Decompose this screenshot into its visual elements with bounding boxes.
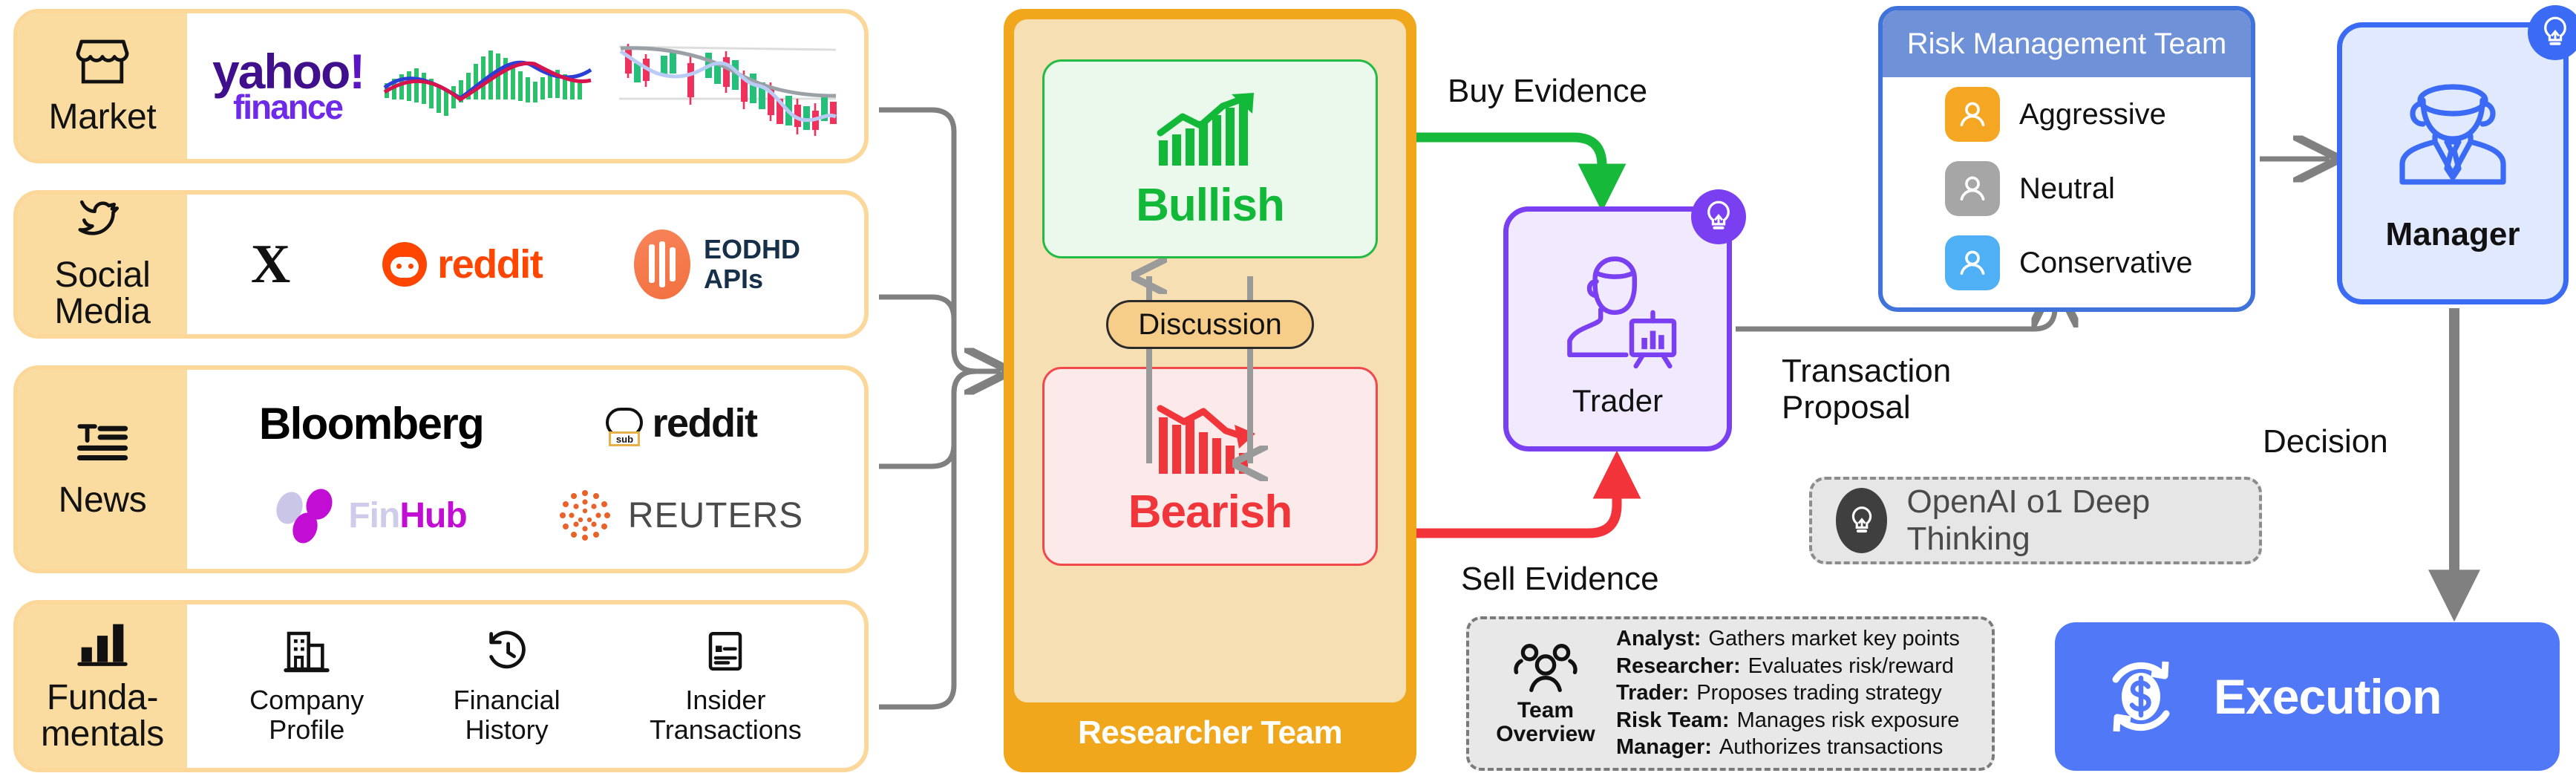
source-label-social-media: SocialMedia bbox=[18, 195, 187, 334]
team-overview-box: TeamOverview Analyst:Gathers market key … bbox=[1466, 616, 1995, 771]
reuters-logo[interactable]: REUTERS bbox=[557, 487, 803, 544]
eodhd-mark-icon bbox=[634, 229, 690, 299]
lightbulb-icon bbox=[2528, 5, 2576, 60]
team-overview-left: TeamOverview bbox=[1482, 641, 1609, 746]
researcher-team-inner: Bullish Discussion bbox=[1014, 19, 1406, 702]
risk-management-team-panel[interactable]: Risk Management Team Aggressive Neutral … bbox=[1878, 6, 2255, 312]
source-label-fundamentals: Funda-mentals bbox=[18, 604, 187, 768]
bullish-label: Bullish bbox=[1136, 179, 1284, 232]
execution-label: Execution bbox=[2214, 668, 2441, 725]
team-overview-rows: Analyst:Gathers market key points Resear… bbox=[1616, 626, 1981, 761]
source-body-news: Bloomberg sub reddit FinHub bbox=[187, 370, 864, 569]
reuters-mark-icon bbox=[557, 487, 613, 544]
discussion-arrows bbox=[1014, 258, 1406, 481]
source-label-text: News bbox=[59, 483, 147, 519]
diagram-canvas: Market yahoo! finance bbox=[0, 0, 2576, 776]
source-label-text: SocialMedia bbox=[54, 258, 150, 330]
candlestick-chart-uptrend-image bbox=[379, 34, 601, 138]
bar-chart-icon bbox=[77, 619, 128, 667]
document-lines-icon bbox=[703, 627, 748, 675]
insider-transactions-item[interactable]: InsiderTransactions bbox=[650, 627, 802, 746]
twitter-bird-icon bbox=[75, 198, 130, 244]
x-logo[interactable]: X bbox=[251, 233, 290, 296]
group-people-icon bbox=[1514, 641, 1578, 694]
building-icon bbox=[283, 627, 330, 675]
person-icon bbox=[1945, 235, 2000, 290]
team-overview-row: Risk Team:Manages risk exposure bbox=[1616, 708, 1981, 734]
source-row-social-media[interactable]: SocialMedia X reddit EODHDAPIs bbox=[13, 190, 869, 339]
financial-history-item[interactable]: FinancialHistory bbox=[454, 627, 560, 746]
news-article-icon bbox=[76, 420, 128, 469]
lightbulb-icon bbox=[1691, 189, 1746, 244]
source-label-text: Market bbox=[49, 100, 157, 136]
dollar-refresh-icon bbox=[2096, 652, 2186, 741]
researcher-team-title: Researcher Team bbox=[1078, 714, 1342, 751]
openai-deep-thinking-chip: OpenAI o1 Deep Thinking bbox=[1809, 477, 2262, 564]
edge-label-buy-evidence: Buy Evidence bbox=[1448, 73, 1647, 109]
yahoo-finance-logo[interactable]: yahoo! finance bbox=[212, 50, 364, 122]
uptrend-bars-icon bbox=[1154, 87, 1266, 175]
source-row-market[interactable]: Market yahoo! finance bbox=[13, 9, 869, 163]
manager-person-suit-icon bbox=[2379, 74, 2527, 215]
risk-member-label: Aggressive bbox=[2019, 98, 2166, 131]
team-overview-title: TeamOverview bbox=[1496, 699, 1595, 746]
trader-person-chart-icon bbox=[1547, 239, 1688, 380]
manager-label: Manager bbox=[2386, 216, 2520, 253]
openai-chip-label: OpenAI o1 Deep Thinking bbox=[1906, 483, 2259, 558]
lightbulb-icon bbox=[1836, 488, 1887, 553]
source-row-fundamentals[interactable]: Funda-mentals CompanyProfile bbox=[13, 600, 869, 772]
risk-member-conservative[interactable]: Conservative bbox=[1883, 226, 2251, 300]
reddit-logo[interactable]: reddit bbox=[382, 241, 542, 287]
subreddit-mark-icon: sub bbox=[603, 402, 646, 445]
trader-label: Trader bbox=[1572, 383, 1663, 419]
edge-label-transaction-proposal: TransactionProposal bbox=[1782, 353, 1951, 426]
trader-card[interactable]: Trader bbox=[1503, 206, 1732, 451]
edge-label-decision: Decision bbox=[2263, 423, 2388, 460]
edge-label-sell-evidence: Sell Evidence bbox=[1461, 561, 1659, 597]
team-overview-row: Analyst:Gathers market key points bbox=[1616, 626, 1981, 653]
source-body-social-media: X reddit EODHDAPIs bbox=[187, 195, 864, 334]
bloomberg-logo[interactable]: Bloomberg bbox=[259, 398, 483, 449]
finhub-logo[interactable]: FinHub bbox=[275, 489, 466, 542]
source-label-news: News bbox=[18, 370, 187, 569]
financial-history-label: FinancialHistory bbox=[454, 685, 560, 746]
risk-member-label: Neutral bbox=[2019, 172, 2115, 206]
team-overview-row: Manager:Authorizes transactions bbox=[1616, 734, 1981, 761]
source-label-market: Market bbox=[18, 13, 187, 159]
risk-team-title: Risk Management Team bbox=[1883, 10, 2251, 77]
reddit-mark-icon bbox=[382, 242, 427, 287]
candlestick-chart-downtrend-image bbox=[616, 30, 839, 142]
source-body-market: yahoo! finance bbox=[187, 13, 864, 159]
source-label-text: Funda-mentals bbox=[41, 680, 164, 753]
risk-member-neutral[interactable]: Neutral bbox=[1883, 151, 2251, 226]
discussion-pill[interactable]: Discussion bbox=[1106, 300, 1314, 349]
manager-card[interactable]: Manager bbox=[2337, 22, 2569, 304]
team-overview-row: Trader:Proposes trading strategy bbox=[1616, 680, 1981, 707]
researcher-team-panel[interactable]: Bullish Discussion bbox=[1004, 9, 1416, 772]
person-icon bbox=[1945, 87, 2000, 142]
person-icon bbox=[1945, 161, 2000, 216]
execution-card[interactable]: Execution bbox=[2055, 622, 2560, 771]
bullish-card[interactable]: Bullish bbox=[1042, 59, 1378, 258]
risk-member-label: Conservative bbox=[2019, 247, 2192, 280]
subreddit-logo[interactable]: sub reddit bbox=[603, 400, 756, 446]
source-row-news[interactable]: News Bloomberg sub reddit FinHub bbox=[13, 365, 869, 573]
bearish-label: Bearish bbox=[1128, 486, 1292, 538]
history-clock-icon bbox=[483, 627, 532, 675]
risk-member-aggressive[interactable]: Aggressive bbox=[1883, 77, 2251, 151]
company-profile-item[interactable]: CompanyProfile bbox=[249, 627, 364, 746]
team-overview-row: Researcher:Evaluates risk/reward bbox=[1616, 653, 1981, 680]
eodhd-apis-logo[interactable]: EODHDAPIs bbox=[634, 229, 800, 299]
source-body-fundamentals: CompanyProfile FinancialHistory bbox=[187, 604, 864, 768]
company-profile-label: CompanyProfile bbox=[249, 685, 364, 746]
insider-transactions-label: InsiderTransactions bbox=[650, 685, 802, 746]
storefront-icon bbox=[76, 37, 129, 86]
finhub-mark-icon bbox=[275, 489, 339, 542]
